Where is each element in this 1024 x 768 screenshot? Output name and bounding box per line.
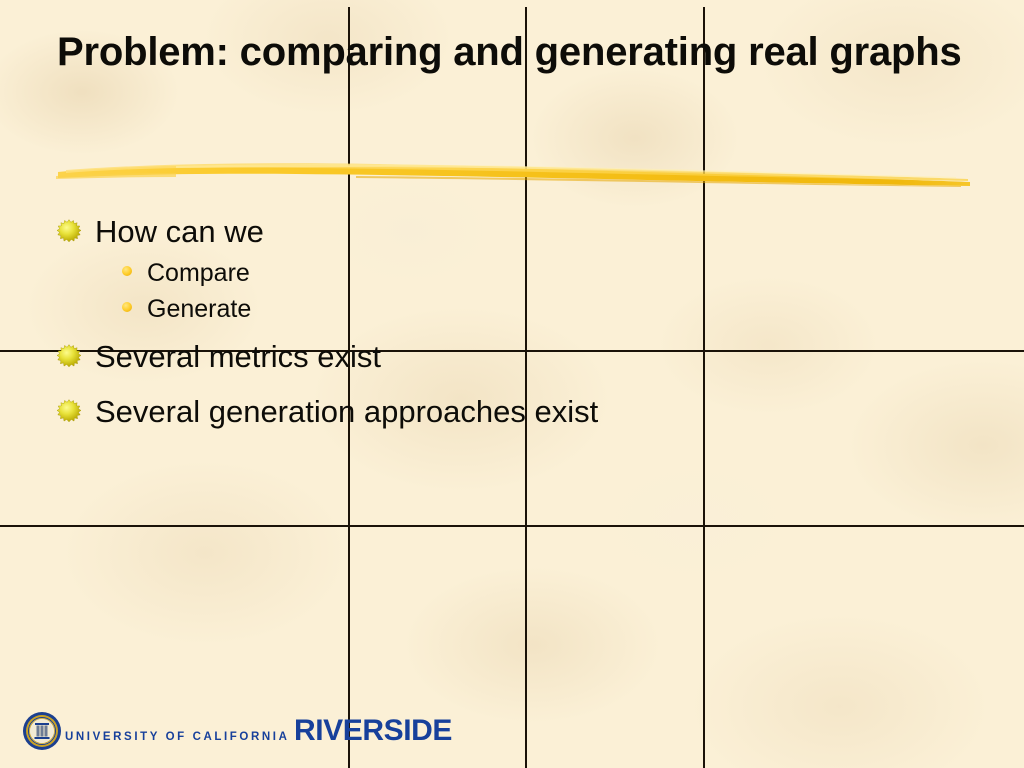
round-dot-bullet-icon — [107, 256, 147, 276]
list-item: Several metrics exist — [57, 337, 997, 378]
list-item: Generate — [107, 292, 997, 328]
brush-stroke-divider — [56, 158, 972, 188]
sunburst-bullet-icon — [57, 212, 95, 243]
slide-canvas: Problem: comparing and generating real g… — [0, 0, 1024, 768]
logo-line-university: UNIVERSITY OF CALIFORNIA — [65, 731, 289, 743]
list-item-label: Generate — [147, 292, 251, 328]
bullet-list: How can we Compare Generate Several metr… — [57, 212, 997, 436]
round-dot-bullet-icon — [107, 292, 147, 312]
sunburst-bullet-icon — [57, 392, 95, 423]
logo-line-riverside: RIVERSIDE — [294, 714, 452, 747]
uc-seal-icon — [22, 711, 62, 751]
list-item-label: Compare — [147, 256, 250, 292]
grid-horizontal-line-2 — [0, 525, 1024, 527]
list-item: Compare — [107, 256, 997, 292]
slide-title: Problem: comparing and generating real g… — [57, 30, 977, 75]
list-item-label: How can we — [95, 212, 264, 253]
list-item: Several generation approaches exist — [57, 392, 997, 433]
list-item-label: Several generation approaches exist — [95, 392, 598, 433]
list-item-label: Several metrics exist — [95, 337, 381, 378]
list-item: How can we — [57, 212, 997, 253]
sunburst-bullet-icon — [57, 337, 95, 368]
uc-riverside-logo: UNIVERSITY OF CALIFORNIA RIVERSIDE — [22, 711, 452, 751]
